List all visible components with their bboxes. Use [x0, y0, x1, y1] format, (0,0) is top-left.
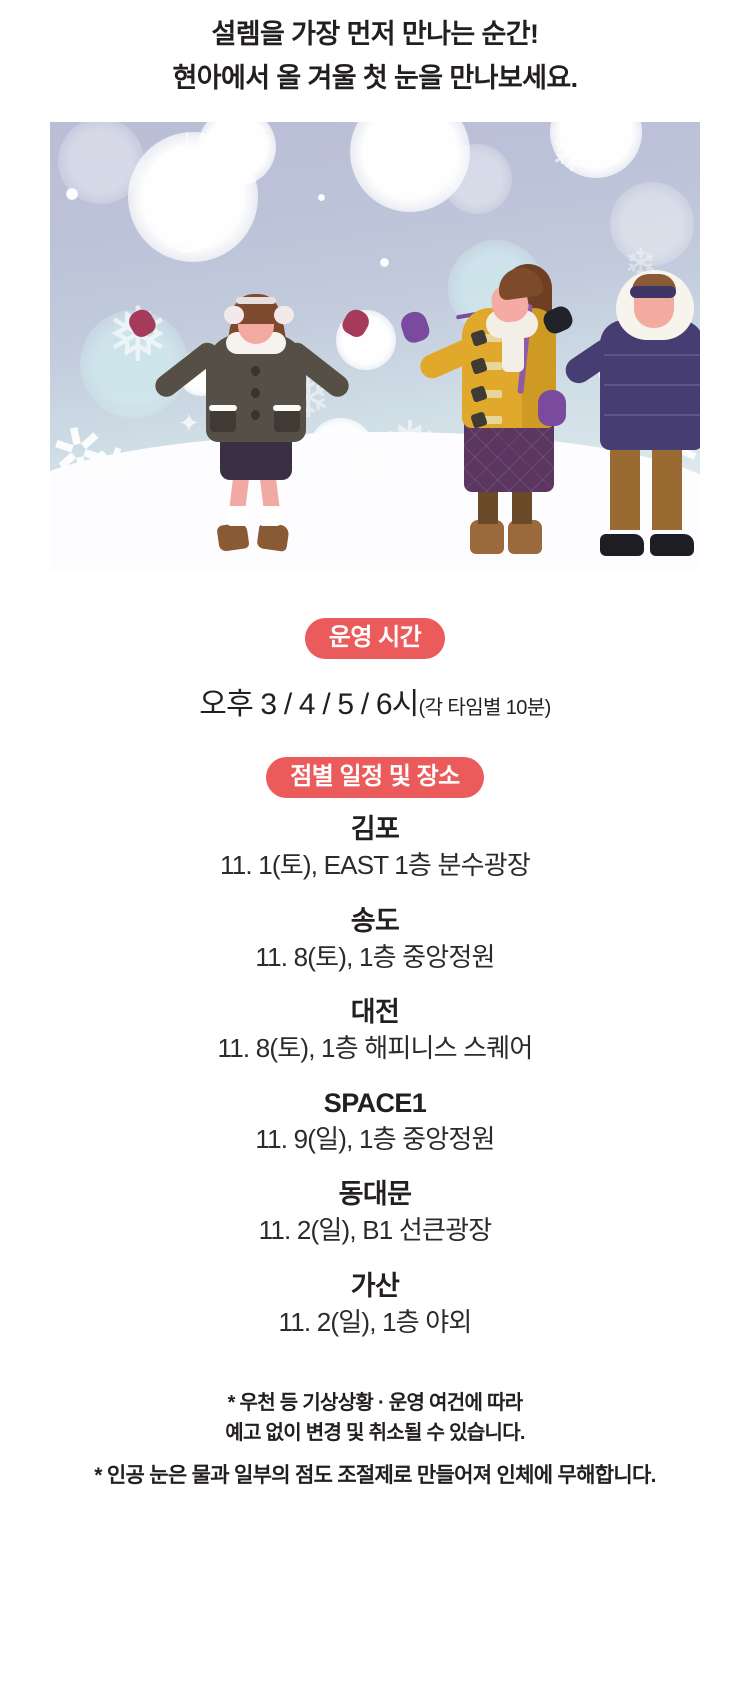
schedule-badge-row: 점별 일정 및 장소: [0, 757, 750, 798]
store-info: 11. 8(토), 1층 해피니스 스퀘어: [0, 1033, 750, 1064]
store-name: 동대문: [0, 1179, 750, 1210]
sparkle-icon: ✦: [368, 144, 397, 178]
girl-pocket-trim-left: [209, 405, 237, 411]
store-info: 11. 2(일), 1층 야외: [0, 1307, 750, 1338]
snowflake-icon: ❄: [164, 203, 189, 233]
store-name: 대전: [0, 997, 750, 1028]
girl-sock-right: [259, 506, 281, 526]
ornament-string: [186, 132, 188, 188]
man-shoe-left: [600, 534, 644, 556]
store-name: SPACE1: [0, 1088, 750, 1119]
woman-boot-left: [470, 520, 504, 554]
woman-mitten-right: [538, 390, 566, 426]
woman-toggle-button: [478, 416, 502, 424]
hero-illustration: ❄ ❅ ❄ ❅ ❄ ✦ ✦ ❄ ✲ ✲ ✲ ✲ ✲: [50, 122, 700, 572]
girl-button: [251, 410, 260, 420]
girl-boot-right: [256, 522, 289, 552]
store-item: 송도 11. 8(토), 1층 중앙정원: [0, 906, 750, 973]
note-line-2: 예고 없이 변경 및 취소될 수 있습니다.: [0, 1418, 750, 1448]
store-name: 가산: [0, 1271, 750, 1302]
store-name: 김포: [0, 814, 750, 845]
man-parka-seam: [604, 384, 700, 386]
hours-time: 오후 3 / 4 / 5 / 6시: [199, 688, 418, 721]
girl-button: [251, 388, 260, 398]
page-title: 설렘을 가장 먼저 만나는 순간! 현아에서 올 겨울 첫 눈을 만나보세요.: [0, 0, 750, 100]
hours-badge-row: 운영 시간: [0, 618, 750, 659]
bokeh-dot: [318, 194, 325, 201]
store-item: 대전 11. 8(토), 1층 해피니스 스퀘어: [0, 997, 750, 1064]
store-info: 11. 2(일), B1 선큰광장: [0, 1215, 750, 1246]
store-item: SPACE1 11. 9(일), 1층 중앙정원: [0, 1088, 750, 1155]
character-man: [570, 256, 700, 556]
bokeh-light: [442, 144, 512, 214]
man-leg-left: [610, 442, 640, 530]
man-beanie: [630, 286, 676, 298]
store-name: 송도: [0, 906, 750, 937]
store-item: 동대문 11. 2(일), B1 선큰광장: [0, 1179, 750, 1246]
woman-boot-right: [508, 520, 542, 554]
man-leg-right: [652, 442, 682, 530]
ornament-cap: [182, 186, 192, 195]
bokeh-dot: [66, 188, 78, 200]
disclaimer-notes: * 우천 등 기상상황 · 운영 여건에 따라 예고 없이 변경 및 취소될 수…: [0, 1388, 750, 1492]
note-line-3: * 인공 눈은 물과 일부의 점도 조절제로 만들어져 인체에 무해합니다.: [0, 1460, 750, 1492]
girl-button: [251, 366, 260, 376]
girl-pocket-left: [210, 410, 236, 432]
ornament-icon: ❄: [158, 194, 216, 252]
hours-text: 오후 3 / 4 / 5 / 6시(각 타임별 10분): [0, 679, 750, 723]
bokeh-dot: [380, 258, 389, 267]
store-item: 김포 11. 1(토), EAST 1층 분수광장: [0, 814, 750, 881]
woman-toggle-button: [478, 390, 502, 398]
girl-earmuff-band: [236, 297, 276, 304]
schedule-badge: 점별 일정 및 장소: [266, 757, 484, 798]
man-shoe-right: [650, 534, 694, 556]
store-info: 11. 1(토), EAST 1층 분수광장: [0, 850, 750, 881]
store-item: 가산 11. 2(일), 1층 야외: [0, 1271, 750, 1338]
hours-badge: 운영 시간: [305, 618, 446, 659]
woman-toggle-button: [478, 362, 502, 370]
girl-sock-left: [227, 506, 249, 526]
headline-line-2: 현아에서 올 겨울 첫 눈을 만나보세요.: [0, 56, 750, 100]
note-line-1: * 우천 등 기상상황 · 운영 여건에 따라: [0, 1388, 750, 1418]
man-parka-seam: [604, 414, 700, 416]
girl-earmuff-left: [224, 306, 244, 324]
girl-earmuff-right: [274, 306, 294, 324]
girl-boot-left: [216, 522, 249, 552]
woman-skirt: [464, 420, 554, 492]
girl-pocket-trim-right: [273, 405, 301, 411]
snowflake-icon: ❄: [550, 128, 594, 180]
ornament-ball: ❄: [158, 194, 216, 252]
girl-pocket-right: [274, 410, 300, 432]
store-list: 김포 11. 1(토), EAST 1층 분수광장 송도 11. 8(토), 1…: [0, 814, 750, 1337]
character-girl: [158, 315, 348, 550]
store-info: 11. 8(토), 1층 중앙정원: [0, 942, 750, 973]
winter-scene-background: ❄ ❅ ❄ ❅ ❄ ✦ ✦ ❄ ✲ ✲ ✲ ✲ ✲: [50, 122, 700, 572]
store-info: 11. 9(일), 1층 중앙정원: [0, 1124, 750, 1155]
woman-mitten-left: [398, 309, 432, 346]
hours-note: (각 타임별 10분): [419, 697, 551, 719]
man-parka-seam: [604, 354, 700, 356]
headline-line-1: 설렘을 가장 먼저 만나는 순간!: [0, 12, 750, 56]
